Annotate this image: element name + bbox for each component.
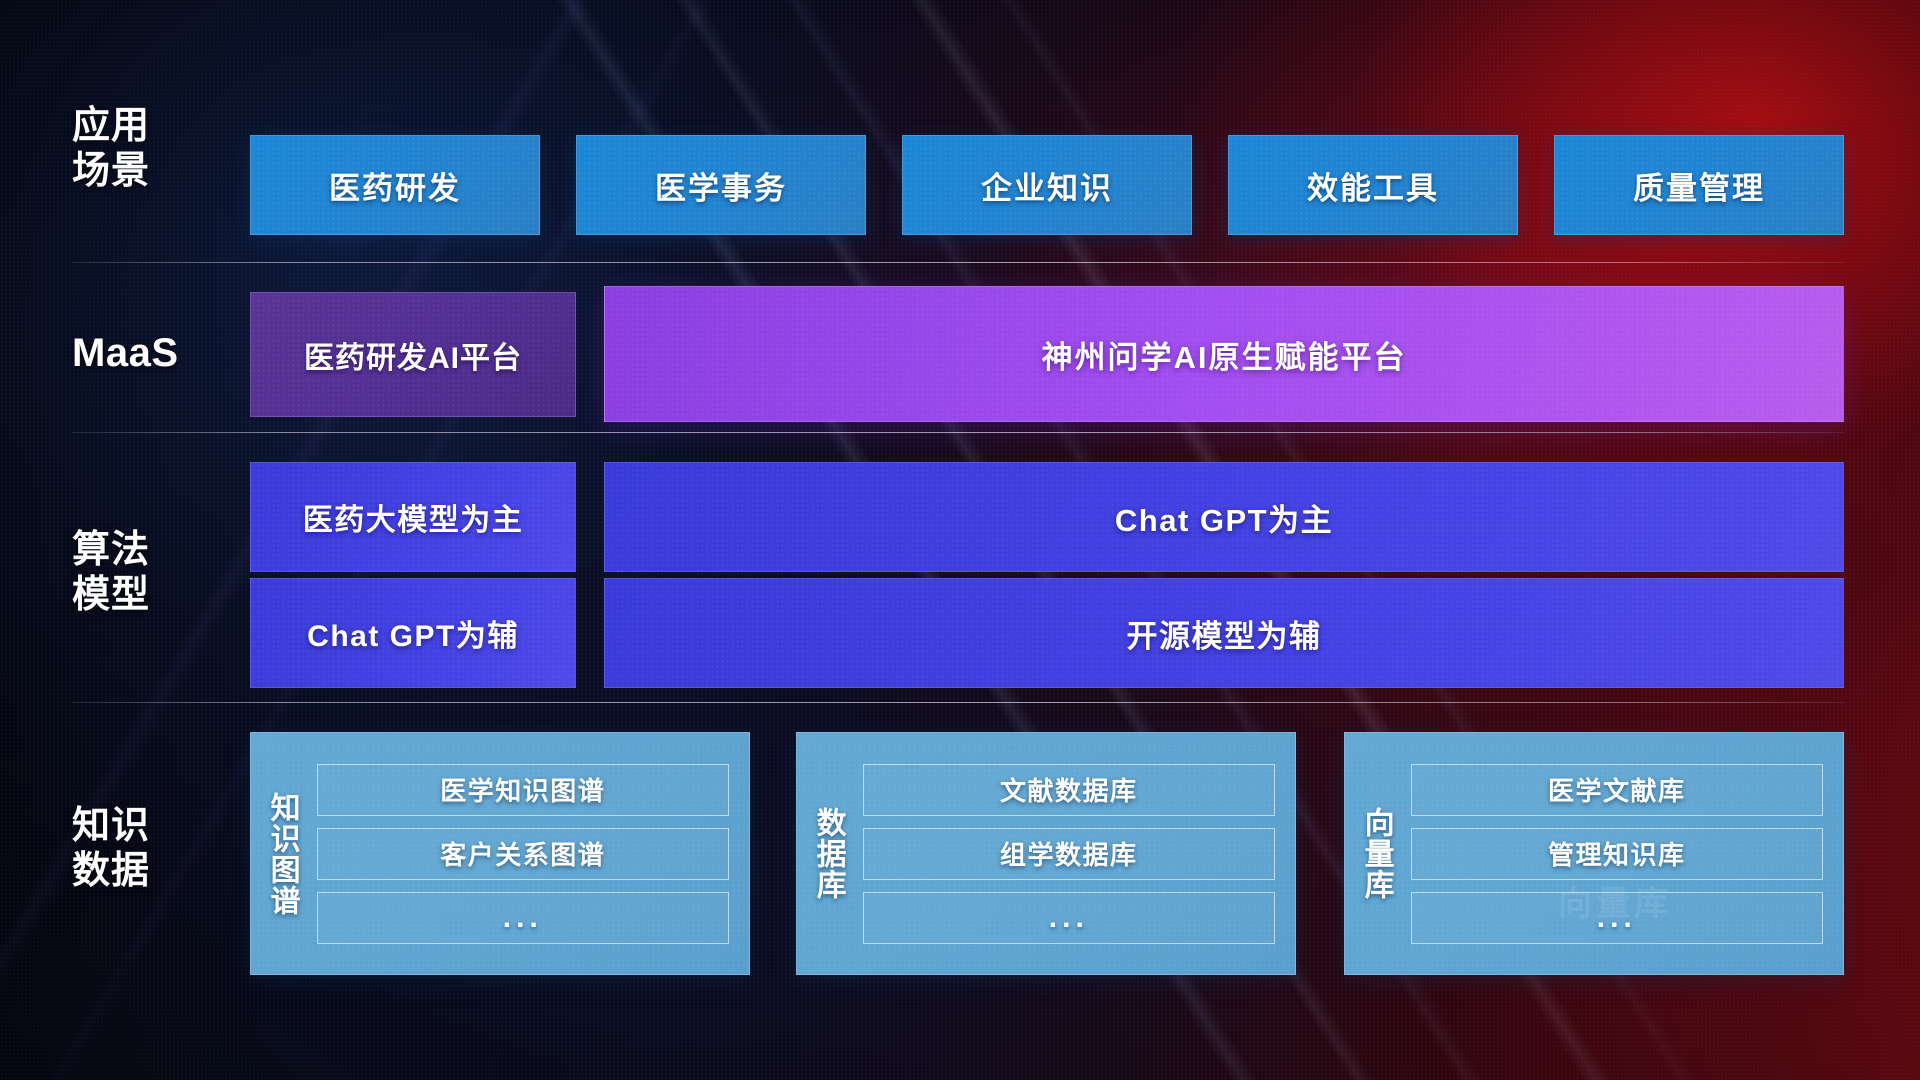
- knowledge-item-3-2[interactable]: 管理知识库: [1411, 828, 1823, 880]
- app-scenario-label-1: 医药研发: [329, 163, 461, 208]
- knowledge-panel-items-1: 医学知识图谱 客户关系图谱 ...: [313, 733, 749, 974]
- knowledge-item-2-2[interactable]: 组学数据库: [863, 828, 1275, 880]
- knowledge-item-2-3[interactable]: ...: [863, 892, 1275, 944]
- algo-box-right-1[interactable]: Chat GPT为主: [604, 462, 1844, 572]
- architecture-diagram: 应用 场景 医药研发 医学事务 企业知识 效能工具 质量管理 MaaS 医药研发…: [0, 0, 1920, 1080]
- algo-label-right-1: Chat GPT为主: [1115, 495, 1333, 540]
- app-scenario-box-3[interactable]: 企业知识: [902, 135, 1192, 235]
- algo-box-left-2[interactable]: Chat GPT为辅: [250, 578, 576, 688]
- row-label-algorithm-model: 算法 模型: [72, 528, 232, 618]
- maas-platform-label-right: 神州问学AI原生赋能平台: [1042, 332, 1407, 377]
- app-scenario-box-5[interactable]: 质量管理: [1554, 135, 1844, 235]
- app-scenario-label-2: 医学事务: [655, 163, 787, 208]
- knowledge-panel-items-3: 医学文献库 管理知识库 ...: [1407, 733, 1843, 974]
- row-label-knowledge-data: 知识 数据: [72, 804, 232, 894]
- app-scenario-box-1[interactable]: 医药研发: [250, 135, 540, 235]
- algo-box-left-1[interactable]: 医药大模型为主: [250, 462, 576, 572]
- knowledge-panel-title-3: 向量库: [1345, 733, 1407, 974]
- knowledge-panel-vector-store[interactable]: 向量库 医学文献库 管理知识库 ...: [1344, 732, 1844, 975]
- app-scenario-label-4: 效能工具: [1307, 163, 1439, 208]
- divider-3: [72, 702, 1845, 703]
- algo-label-left-1: 医药大模型为主: [303, 495, 524, 539]
- knowledge-item-2-1[interactable]: 文献数据库: [863, 764, 1275, 816]
- knowledge-panel-items-2: 文献数据库 组学数据库 ...: [859, 733, 1295, 974]
- slide-canvas: 应用 场景 医药研发 医学事务 企业知识 效能工具 质量管理 MaaS 医药研发…: [0, 0, 1920, 1080]
- knowledge-panel-database[interactable]: 数据库 文献数据库 组学数据库 ...: [796, 732, 1296, 975]
- row-label-application-scenarios: 应用 场景: [72, 104, 232, 194]
- app-scenario-box-4[interactable]: 效能工具: [1228, 135, 1518, 235]
- maas-platform-box-left[interactable]: 医药研发AI平台: [250, 292, 576, 417]
- app-scenario-box-2[interactable]: 医学事务: [576, 135, 866, 235]
- knowledge-panel-title-1: 知识图谱: [251, 733, 313, 974]
- algo-label-right-2: 开源模型为辅: [1127, 611, 1322, 656]
- knowledge-panel-title-2: 数据库: [797, 733, 859, 974]
- app-scenario-label-3: 企业知识: [981, 163, 1113, 208]
- maas-platform-label-left: 医药研发AI平台: [304, 333, 522, 377]
- knowledge-panel-knowledge-graph[interactable]: 知识图谱 医学知识图谱 客户关系图谱 ...: [250, 732, 750, 975]
- knowledge-item-3-1[interactable]: 医学文献库: [1411, 764, 1823, 816]
- maas-platform-box-right[interactable]: 神州问学AI原生赋能平台: [604, 286, 1844, 422]
- row-label-maas: MaaS: [72, 330, 232, 377]
- knowledge-item-3-3[interactable]: ...: [1411, 892, 1823, 944]
- app-scenario-label-5: 质量管理: [1633, 163, 1765, 208]
- algo-box-right-2[interactable]: 开源模型为辅: [604, 578, 1844, 688]
- knowledge-item-1-3[interactable]: ...: [317, 892, 729, 944]
- divider-2: [72, 432, 1845, 433]
- knowledge-item-1-2[interactable]: 客户关系图谱: [317, 828, 729, 880]
- algo-label-left-2: Chat GPT为辅: [307, 611, 519, 655]
- knowledge-item-1-1[interactable]: 医学知识图谱: [317, 764, 729, 816]
- divider-1: [72, 262, 1845, 263]
